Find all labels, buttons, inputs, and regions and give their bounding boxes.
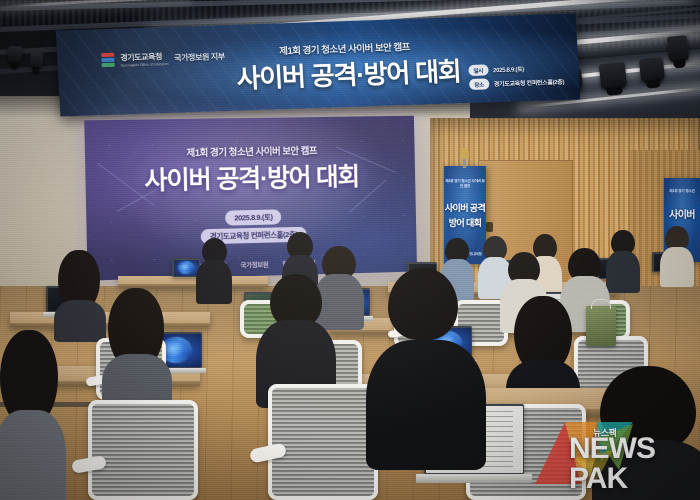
speaker-box xyxy=(667,35,690,63)
screen-date-chip: 2025.8.9.(토) xyxy=(225,209,282,225)
vbanner2-main-text: 사이버 xyxy=(664,208,700,225)
person-body xyxy=(0,410,66,500)
stage-banner: 경기도교육청 Gyeonggido Office of Education 국가… xyxy=(56,13,580,116)
banner-finial-icon xyxy=(460,148,469,159)
desk-edge xyxy=(118,284,268,287)
banner-info-date: 일시 2025.8.9.(토) xyxy=(468,63,524,76)
chair-back xyxy=(88,400,198,500)
gyeonggi-education-logo-icon xyxy=(101,53,115,68)
laptop-screen[interactable] xyxy=(174,260,199,276)
stage-spotlight xyxy=(639,57,665,83)
banner-title: 사이버 공격·방어 대회 xyxy=(236,51,462,95)
stage-spotlight xyxy=(29,52,43,70)
projection-screen: 제1회 경기 청소년 사이버 보안 캠프 사이버 공격·방어 대회 2025.8… xyxy=(84,116,417,281)
person-foreground-left xyxy=(0,330,66,500)
screen-title: 사이버 공격·방어 대회 xyxy=(85,156,415,198)
banner-partner-name: 국가정보원 지부 xyxy=(174,51,225,64)
person-foreground-center xyxy=(366,340,486,500)
banner-place-value: 경기도교육청 컨퍼런스홀(2층) xyxy=(494,77,565,88)
person-body xyxy=(660,247,694,287)
person xyxy=(256,274,336,398)
person xyxy=(606,230,640,288)
stage-spotlight xyxy=(7,46,22,65)
watermark-english-text: NEWS PAK xyxy=(569,434,695,494)
banner-place-label: 장소 xyxy=(469,78,489,90)
chair[interactable] xyxy=(268,384,378,500)
door-handle[interactable] xyxy=(486,222,493,232)
person xyxy=(54,250,106,330)
bag-handle xyxy=(591,299,611,309)
banner-logo-group: 경기도교육청 Gyeonggido Office of Education 국가… xyxy=(101,49,225,68)
person-body xyxy=(606,251,640,293)
news-pak-watermark: 뉴스팩 NEWS PAK xyxy=(535,420,695,490)
person xyxy=(102,288,172,398)
stage-spotlight xyxy=(599,62,628,91)
banner-date-label: 일시 xyxy=(468,64,488,76)
tote-bag[interactable] xyxy=(586,306,616,346)
photo-scene: 경기도교육청 Gyeonggido Office of Education 국가… xyxy=(0,0,700,500)
vbanner-main-text: 사이버 공격 방어 대회 xyxy=(444,201,486,231)
person-body xyxy=(196,260,232,304)
person-head xyxy=(388,268,458,340)
banner-info-place: 장소 경기도교육청 컨퍼런스홀(2층) xyxy=(469,76,565,90)
person xyxy=(660,226,694,282)
banner-org-name: 경기도교육청 Gyeonggido Office of Education xyxy=(120,51,169,68)
chair-back xyxy=(268,384,378,500)
chair[interactable] xyxy=(88,400,198,500)
banner-date-value: 2025.8.9.(토) xyxy=(493,64,524,74)
person xyxy=(196,238,232,300)
vbanner2-top-text: 제1회 경기 청소년 xyxy=(664,189,700,194)
vbanner-top-text: 제1회 경기 청소년 사이버 보안 캠프 xyxy=(444,179,486,190)
desk-row-back-left xyxy=(118,276,268,287)
screen-logo-2: 국가정보원 xyxy=(240,259,268,270)
person-body xyxy=(366,340,486,470)
